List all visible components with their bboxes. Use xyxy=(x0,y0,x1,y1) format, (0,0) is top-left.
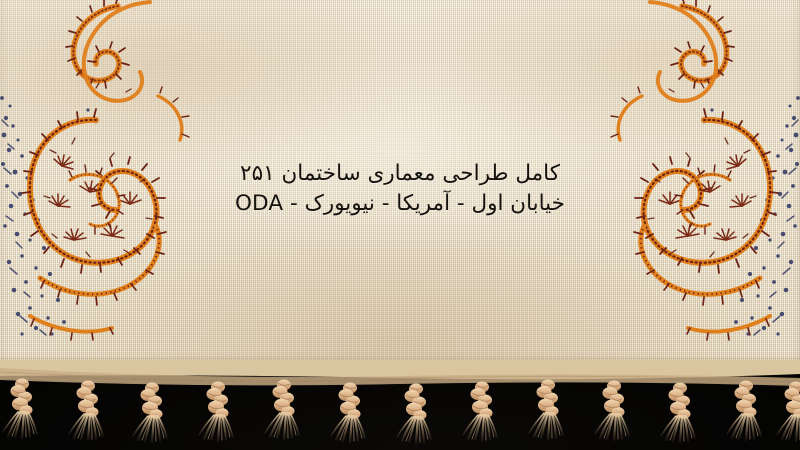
termeh-banner: کامل طراحی معماری ساختمان ۲۵۱ خیابان اول… xyxy=(0,0,800,450)
caption-block: کامل طراحی معماری ساختمان ۲۵۱ خیابان اول… xyxy=(180,160,620,219)
caption-line-1: کامل طراحی معماری ساختمان ۲۵۱ xyxy=(180,160,620,188)
caption-line-2: خیابان اول - آمریکا - نیویورک - ODA xyxy=(180,190,620,218)
knotted-tassel-fringe-icon xyxy=(0,360,800,450)
